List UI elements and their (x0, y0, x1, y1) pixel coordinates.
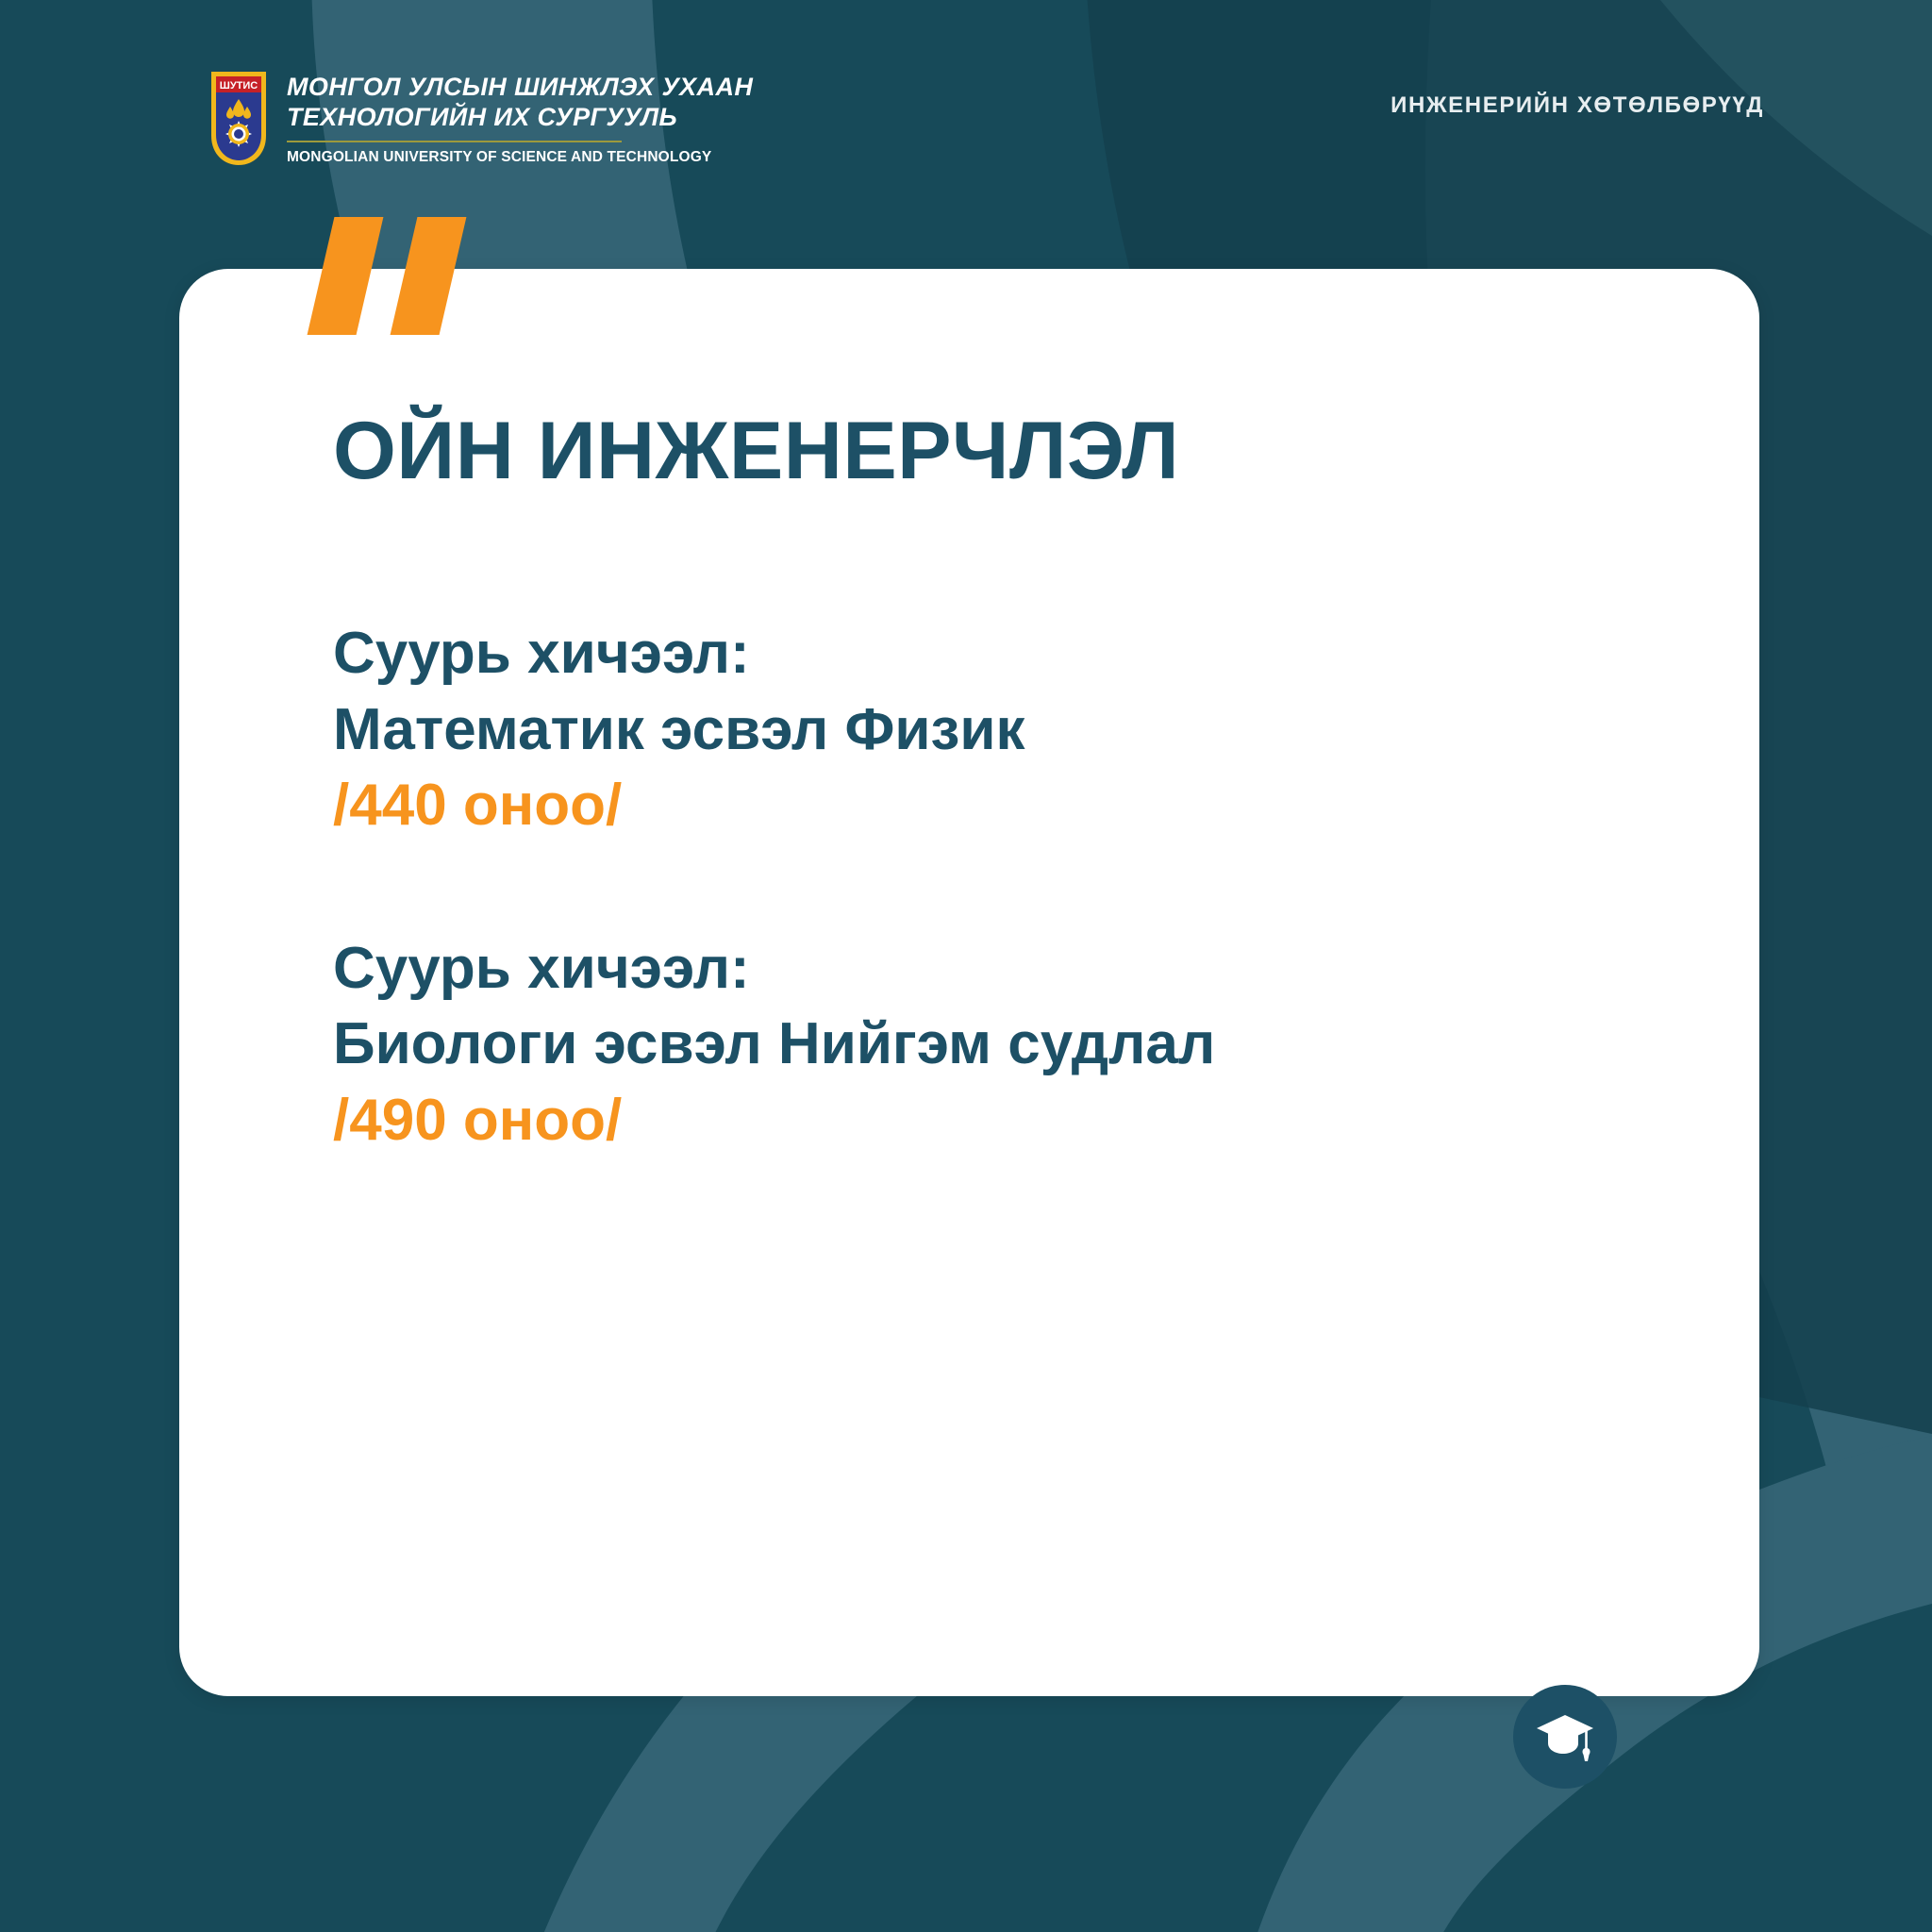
requirement-score: /490 оноо/ (333, 1083, 1703, 1159)
program-card-content: ОЙН ИНЖЕНЕРЧЛЭЛ Суурь хичээл: Математик … (333, 410, 1703, 1159)
requirement-block-2: Суурь хичээл: Биологи эсвэл Нийгэм судла… (333, 931, 1703, 1159)
requirement-subject: Биологи эсвэл Нийгэм судлал (333, 1007, 1703, 1083)
requirement-subject: Математик эсвэл Физик (333, 692, 1703, 769)
requirement-block-1: Суурь хичээл: Математик эсвэл Физик /440… (333, 616, 1703, 844)
university-name-english: MONGOLIAN UNIVERSITY OF SCIENCE AND TECH… (287, 149, 753, 166)
crest-wheel-emblem (225, 121, 252, 147)
quote-bar-right (391, 217, 467, 335)
university-name-line1: МОНГОЛ УЛСЫН ШИНЖЛЭХ УХААН (287, 72, 753, 102)
requirement-label: Суурь хичээл: (333, 931, 1703, 1008)
must-crest-icon: ШУТИС (209, 68, 268, 168)
brand-divider (287, 141, 622, 142)
brand-lockup: ШУТИС МОНГОЛ УЛСЫН ШИНЖЛЭХ УХААН ТЕХНОЛО… (209, 68, 753, 168)
quotation-mark-icon (311, 217, 500, 368)
graduation-cap-icon (1534, 1709, 1596, 1764)
program-card: ОЙН ИНЖЕНЕРЧЛЭЛ Суурь хичээл: Математик … (179, 269, 1759, 1696)
crest-banner-text: ШУТИС (220, 80, 258, 92)
university-name-line2: ТЕХНОЛОГИЙН ИХ СУРГУУЛЬ (287, 102, 753, 132)
brand-text-block: МОНГОЛ УЛСЫН ШИНЖЛЭХ УХААН ТЕХНОЛОГИЙН И… (287, 68, 753, 166)
quote-bar-left (308, 217, 384, 335)
graduation-cap-badge (1513, 1685, 1617, 1789)
section-tag: ИНЖЕНЕРИЙН ХӨТӨЛБӨРҮҮД (1391, 92, 1764, 119)
page-header: ШУТИС МОНГОЛ УЛСЫН ШИНЖЛЭХ УХААН ТЕХНОЛО… (0, 0, 1932, 217)
program-title: ОЙН ИНЖЕНЕРЧЛЭЛ (333, 410, 1703, 491)
requirement-score: /440 оноо/ (333, 768, 1703, 844)
requirement-label: Суурь хичээл: (333, 616, 1703, 692)
